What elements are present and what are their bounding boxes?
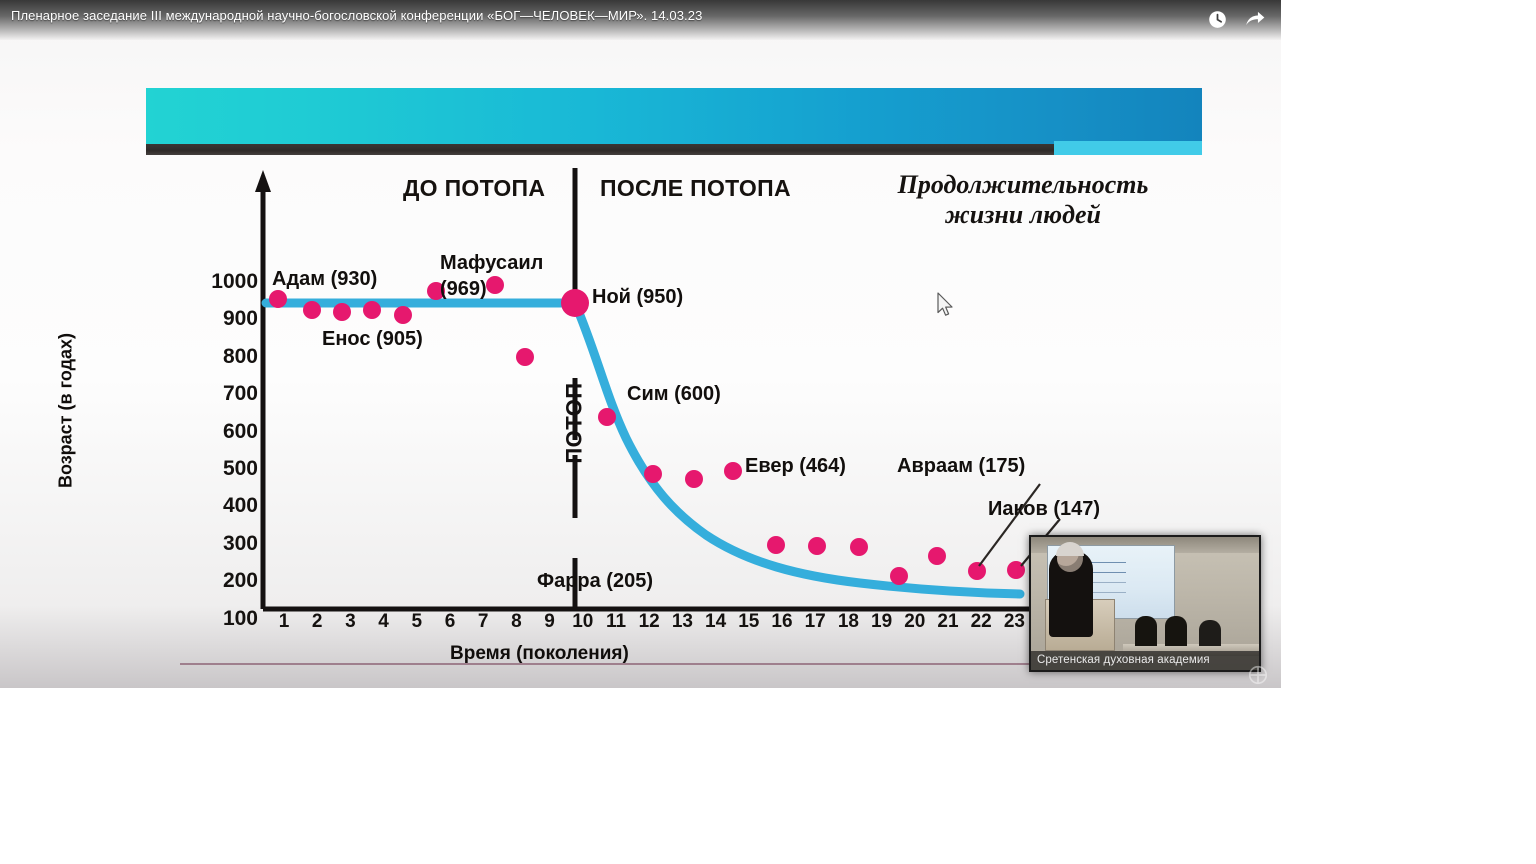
webcam-attendee xyxy=(1199,620,1221,646)
webcam-caption: Сретенская духовная академия xyxy=(1031,651,1259,670)
y-axis xyxy=(255,170,271,609)
annotation-mafusail: Мафусаил (969) xyxy=(440,250,585,302)
annotation-adam: Адам (930) xyxy=(272,268,377,291)
data-points xyxy=(269,276,1025,585)
player-title-actions xyxy=(1205,7,1267,31)
flood-marker-label: ПОТОП xyxy=(562,382,588,463)
watch-later-icon[interactable] xyxy=(1205,7,1229,31)
screenshot-root: ДО ПОТОПА ПОСЛЕ ПОТОПА Продолжительность… xyxy=(0,0,1536,864)
webcam-attendee xyxy=(1135,616,1157,646)
annotation-iakov: Иаков (147) xyxy=(988,498,1100,521)
video-player[interactable]: ДО ПОТОПА ПОСЛЕ ПОТОПА Продолжительность… xyxy=(0,0,1281,688)
speaker-webcam-overlay[interactable]: Сретенская духовная академия xyxy=(1029,535,1261,672)
annotation-ever: Евер (464) xyxy=(745,455,846,478)
share-icon[interactable] xyxy=(1243,7,1267,31)
annotation-enos: Енос (905) xyxy=(322,328,423,351)
annotation-noy: Ной (950) xyxy=(592,286,683,309)
player-title-bar: Пленарное заседание III международной на… xyxy=(0,0,1281,40)
annotation-sim: Сим (600) xyxy=(627,383,721,406)
webcam-attendee xyxy=(1165,616,1187,646)
annotation-avraam: Авраам (175) xyxy=(897,455,1025,478)
annotation-farra: Фарра (205) xyxy=(537,570,653,593)
crosshair-watermark-icon xyxy=(1247,664,1269,686)
video-title: Пленарное заседание III международной на… xyxy=(11,8,702,23)
